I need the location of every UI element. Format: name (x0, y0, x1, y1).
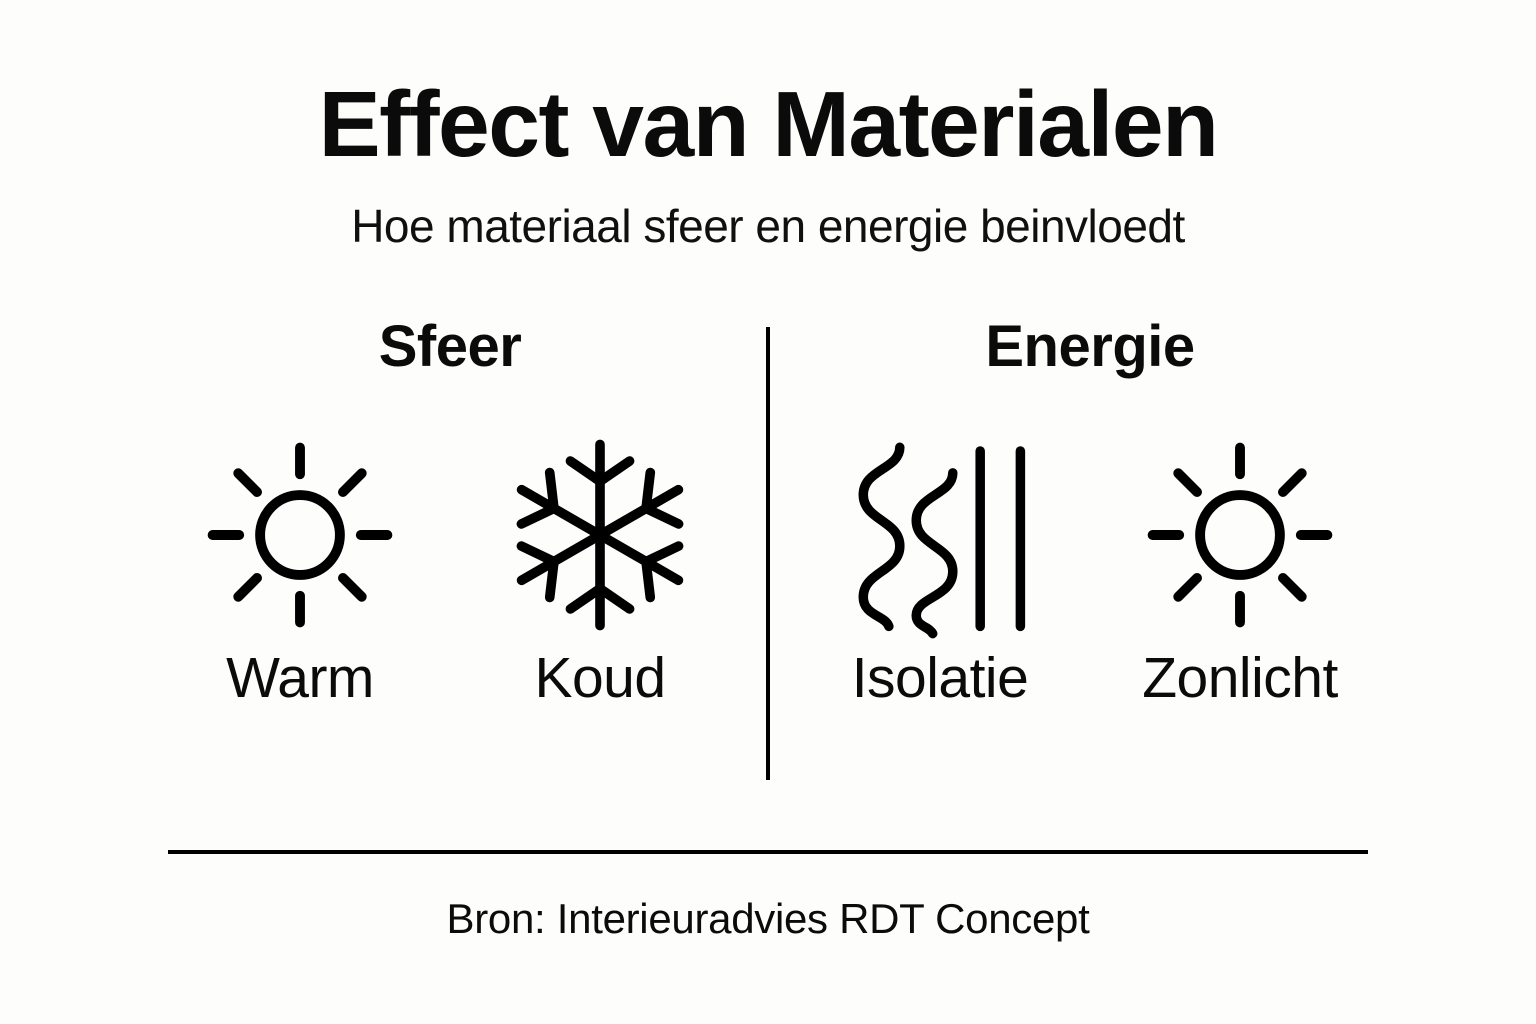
items-energie: Isolatie (790, 430, 1390, 707)
item-label-zonlicht: Zonlicht (1142, 650, 1338, 707)
insulation-icon (845, 430, 1035, 640)
page-subtitle: Hoe materiaal sfeer en energie beinvloed… (0, 203, 1536, 249)
column-heading-sfeer: Sfeer (150, 318, 750, 388)
sun-icon (1145, 430, 1335, 640)
item-koud[interactable]: Koud (470, 430, 730, 707)
item-isolatie[interactable]: Isolatie (810, 430, 1070, 707)
source-credit: Bron: Interieuradvies RDT Concept (0, 895, 1536, 943)
snowflake-icon (505, 430, 695, 640)
vertical-divider (766, 327, 770, 780)
column-energie: Energie Isolatie (790, 318, 1390, 788)
item-label-isolatie: Isolatie (852, 650, 1029, 707)
column-sfeer: Sfeer (150, 318, 750, 788)
item-label-koud: Koud (534, 650, 665, 707)
item-warm[interactable]: Warm (170, 430, 430, 707)
column-heading-energie: Energie (790, 318, 1390, 388)
columns-region: Sfeer (0, 318, 1536, 788)
page-title: Effect van Materialen (0, 78, 1536, 171)
item-label-warm: Warm (226, 650, 374, 707)
header: Effect van Materialen Hoe materiaal sfee… (0, 78, 1536, 249)
items-sfeer: Warm (150, 430, 750, 707)
sun-icon (205, 430, 395, 640)
item-zonlicht[interactable]: Zonlicht (1110, 430, 1370, 707)
poster-canvas: Effect van Materialen Hoe materiaal sfee… (0, 0, 1536, 1024)
horizontal-divider (168, 850, 1368, 854)
